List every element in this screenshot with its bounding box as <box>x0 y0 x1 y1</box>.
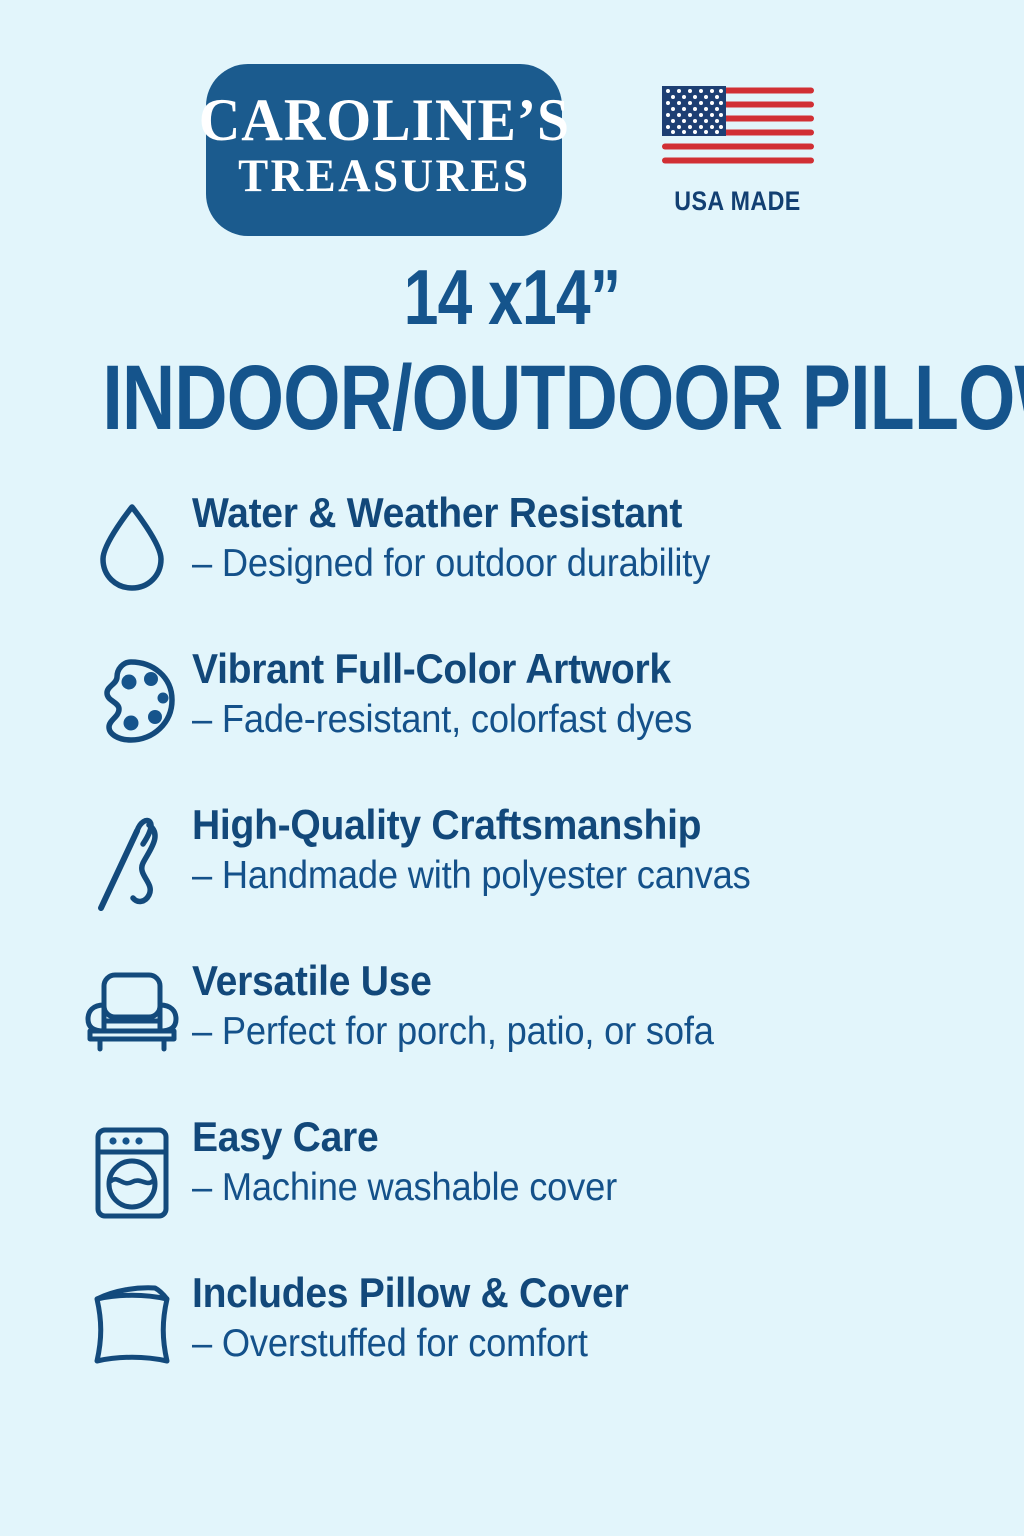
feature-subtitle: – Designed for outdoor durability <box>192 541 710 588</box>
feature-title: Easy Care <box>192 1113 617 1160</box>
list-item: Water & Weather Resistant – Designed for… <box>0 487 1024 643</box>
usa-made-block: USA MADE <box>658 86 818 217</box>
feature-text: Versatile Use – Perfect for porch, patio… <box>180 955 753 1056</box>
armchair-icon <box>84 955 180 1053</box>
feature-title: Versatile Use <box>192 957 714 1004</box>
needle-thread-icon <box>84 799 180 913</box>
list-item: Vibrant Full-Color Artwork – Fade-resist… <box>0 643 1024 799</box>
usa-flag-icon <box>662 86 814 178</box>
feature-subtitle: – Perfect for porch, patio, or sofa <box>192 1009 714 1056</box>
product-infographic: CAROLINE’S TREASURES <box>0 0 1024 1536</box>
product-type-label: INDOOR/OUTDOOR PILLOW <box>102 352 921 446</box>
feature-subtitle: – Fade-resistant, colorfast dyes <box>192 697 692 744</box>
feature-title: Vibrant Full-Color Artwork <box>192 645 692 692</box>
water-drop-icon <box>84 487 180 593</box>
pillow-icon <box>84 1267 180 1373</box>
brand-logo-line2: TREASURES <box>238 150 530 204</box>
feature-title: Water & Weather Resistant <box>192 489 710 536</box>
washing-machine-icon <box>84 1111 180 1221</box>
page-title: 14 x14” INDOOR/OUTDOOR PILLOW <box>0 258 1024 446</box>
feature-title: High-Quality Craftsmanship <box>192 801 751 848</box>
feature-title: Includes Pillow & Cover <box>192 1269 628 1316</box>
brand-logo-line1: CAROLINE’S <box>198 91 569 150</box>
feature-subtitle: – Overstuffed for comfort <box>192 1321 628 1368</box>
list-item: Versatile Use – Perfect for porch, patio… <box>0 955 1024 1111</box>
list-item: Includes Pillow & Cover – Overstuffed fo… <box>0 1267 1024 1423</box>
usa-made-label: USA MADE <box>675 186 801 217</box>
feature-text: Vibrant Full-Color Artwork – Fade-resist… <box>180 643 730 744</box>
feature-text: Includes Pillow & Cover – Overstuffed fo… <box>180 1267 661 1368</box>
feature-text: High-Quality Craftsmanship – Handmade wi… <box>180 799 793 900</box>
paint-palette-icon <box>84 643 180 745</box>
feature-subtitle: – Handmade with polyester canvas <box>192 853 751 900</box>
feature-list: Water & Weather Resistant – Designed for… <box>0 487 1024 1423</box>
product-size-label: 14 x14” <box>102 258 921 336</box>
list-item: Easy Care – Machine washable cover <box>0 1111 1024 1267</box>
brand-header: CAROLINE’S TREASURES <box>0 62 1024 237</box>
list-item: High-Quality Craftsmanship – Handmade wi… <box>0 799 1024 955</box>
feature-text: Easy Care – Machine washable cover <box>180 1111 649 1212</box>
feature-text: Water & Weather Resistant – Designed for… <box>180 487 749 588</box>
brand-logo-badge: CAROLINE’S TREASURES <box>206 64 562 236</box>
feature-subtitle: – Machine washable cover <box>192 1165 617 1212</box>
